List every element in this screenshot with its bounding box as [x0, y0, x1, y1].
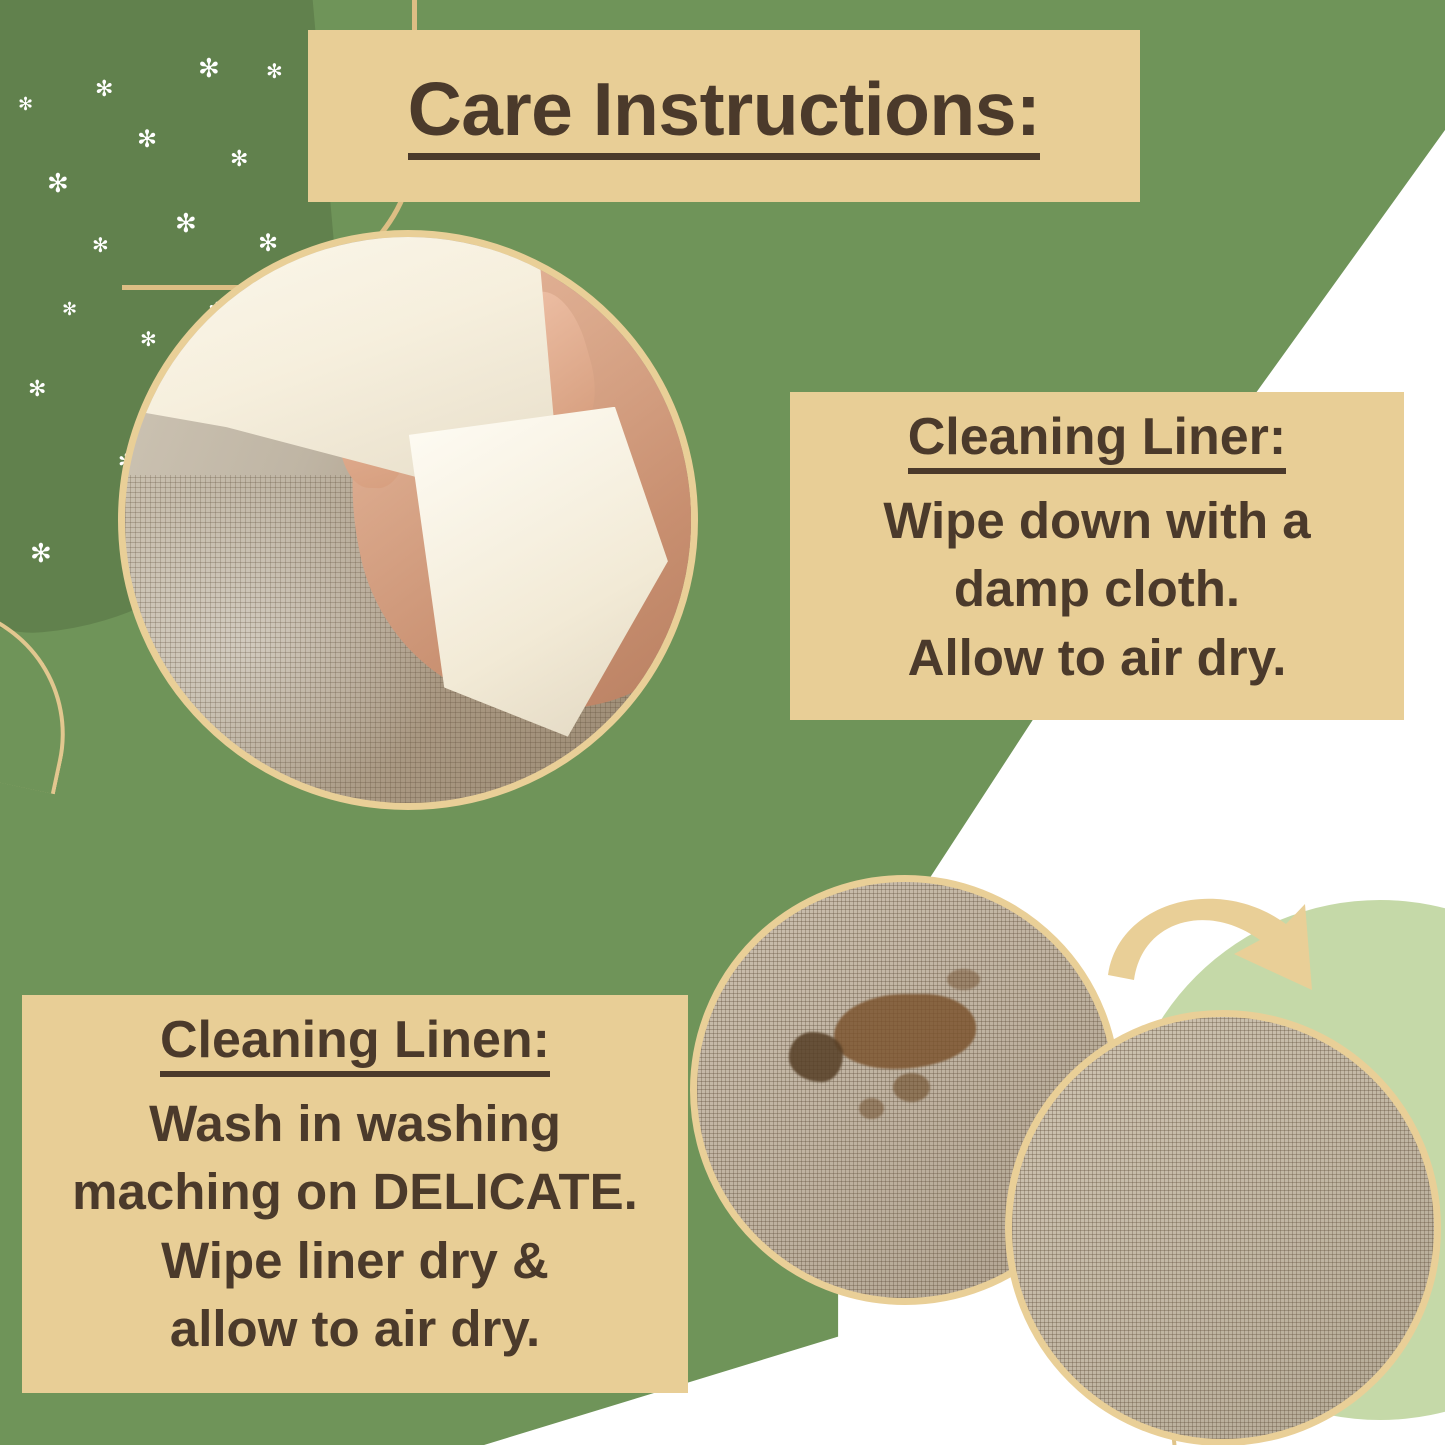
flower-icon: ✻ [198, 55, 220, 81]
curved-arrow-right-icon [1100, 880, 1350, 1020]
cleaning-liner-panel: Cleaning Liner: Wipe down with a damp cl… [790, 392, 1404, 720]
linen-weave-texture [1012, 1017, 1434, 1439]
page-title-panel: Care Instructions: [308, 30, 1140, 202]
cleaning-linen-panel: Cleaning Linen: Wash in washing maching … [22, 995, 688, 1393]
cleaning-linen-line: Wash in washing [40, 1093, 670, 1155]
cleaning-liner-line: damp cloth. [808, 558, 1386, 620]
flower-icon: ✻ [92, 236, 109, 256]
cleaning-liner-heading: Cleaning Liner: [908, 408, 1286, 474]
clean-linen-photo [1005, 1010, 1441, 1445]
wipe-liner-photo [118, 230, 698, 810]
flower-icon: ✻ [230, 148, 248, 170]
cleaning-liner-line: Allow to air dry. [808, 627, 1386, 689]
flower-icon: ✻ [137, 128, 157, 152]
stain-mark [947, 969, 980, 990]
flower-icon: ✻ [175, 210, 197, 236]
care-instructions-poster: ✻✻✻✻✻✻✻✻✻✻✻✻✻✻✻✻ Care Instructions: Clea… [0, 0, 1445, 1445]
flower-icon: ✻ [95, 78, 113, 100]
cleaning-linen-heading: Cleaning Linen: [160, 1011, 550, 1077]
flower-icon: ✻ [28, 378, 46, 400]
page-title: Care Instructions: [408, 72, 1041, 160]
flower-icon: ✻ [18, 95, 33, 113]
flower-icon: ✻ [30, 540, 52, 566]
cleaning-linen-line: maching on DELICATE. [40, 1161, 670, 1223]
flower-icon: ✻ [47, 170, 69, 196]
flower-icon: ✻ [266, 62, 283, 82]
cleaning-linen-line: Wipe liner dry & [40, 1230, 670, 1292]
cleaning-linen-line: allow to air dry. [40, 1298, 670, 1360]
cleaning-liner-line: Wipe down with a [808, 490, 1386, 552]
flower-icon: ✻ [62, 300, 77, 318]
